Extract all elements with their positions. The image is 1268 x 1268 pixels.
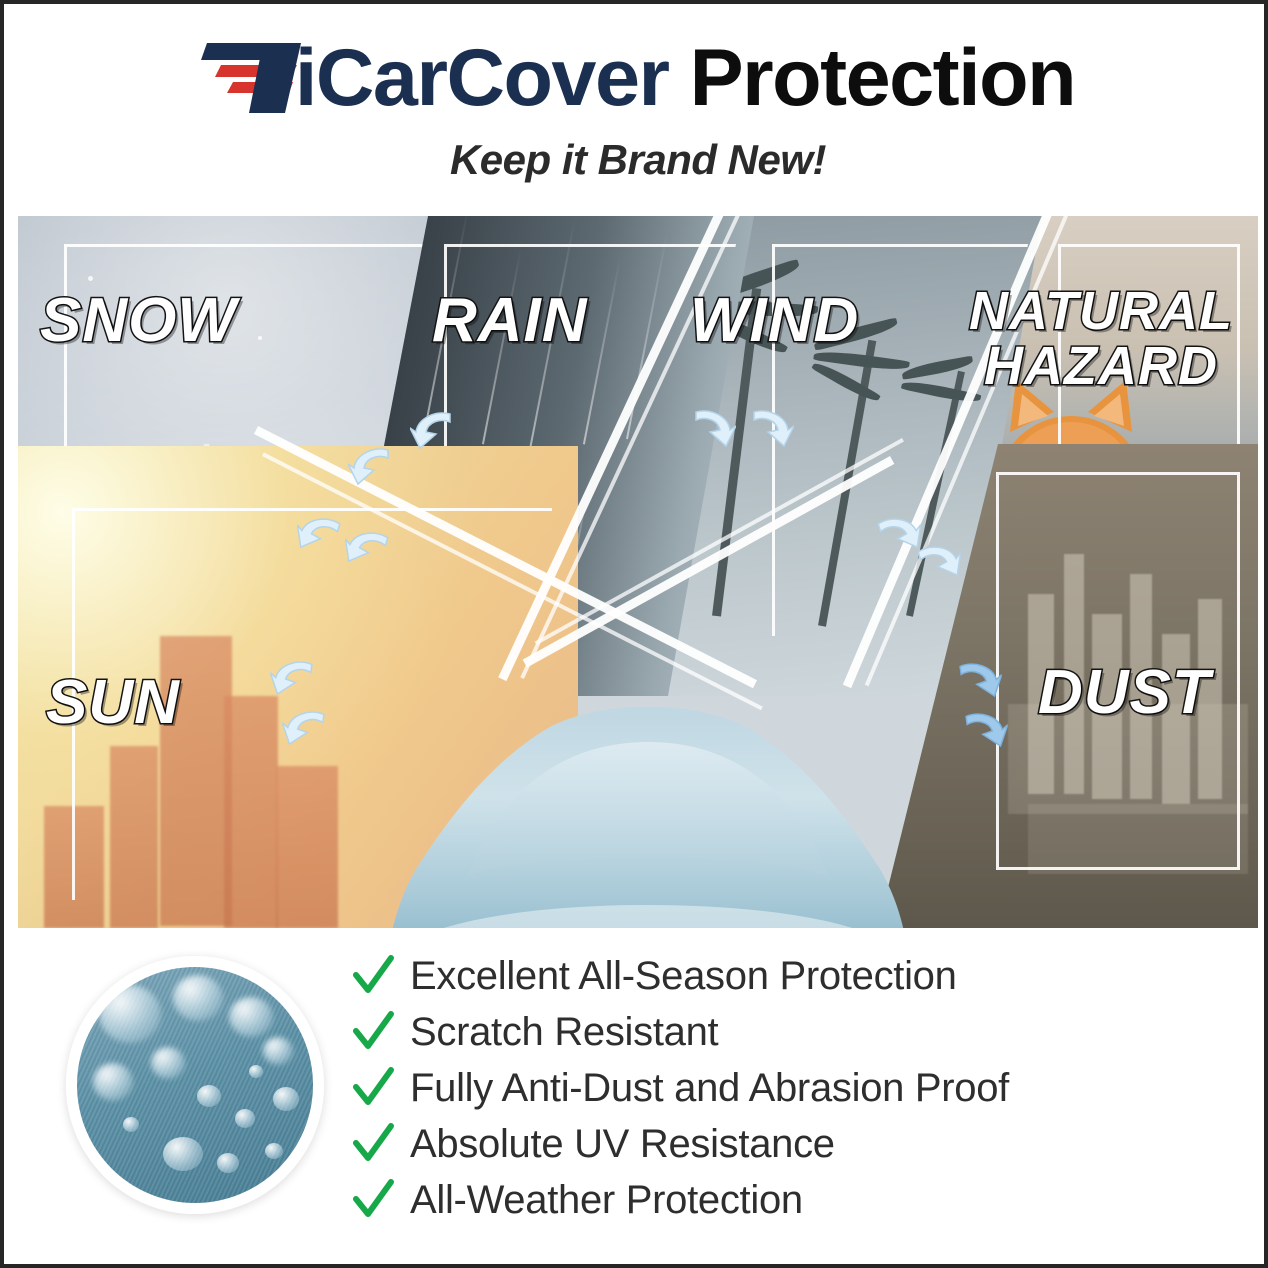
green-check-icon [350,1121,396,1167]
water-beading-fabric-swatch-icon [66,956,324,1214]
feature-label: Excellent All-Season Protection [410,954,957,999]
panel-label-wind: WIND [690,290,859,352]
panel-label-sun: SUN [46,672,180,734]
panel-label-rain: RAIN [432,290,588,352]
page-title: iCarCover Protection [295,40,1075,117]
list-item: All-Weather Protection [350,1172,1230,1228]
curved-deflection-arrow-icon [748,406,794,448]
curved-deflection-arrow-icon [267,653,318,701]
curved-deflection-arrow-icon [690,406,736,448]
panel-label-snow: SNOW [40,290,237,352]
list-item: Excellent All-Season Protection [350,948,1230,1004]
brand-lockup: iCarCover Protection [4,32,1268,124]
green-check-icon [350,1009,396,1055]
feature-label: Scratch Resistant [410,1010,718,1055]
list-item: Fully Anti-Dust and Abrasion Proof [350,1060,1230,1116]
header: iCarCover Protection Keep it Brand New! [4,4,1268,204]
list-item: Absolute UV Resistance [350,1116,1230,1172]
icarcover-wing-logo-icon [201,41,305,115]
brand-suffix: Protection [690,33,1076,123]
product-infographic: iCarCover Protection Keep it Brand New! … [0,0,1268,1268]
feature-label: All-Weather Protection [410,1178,803,1223]
curved-deflection-arrow-icon [279,703,330,751]
features-section: Excellent All-Season Protection Scratch … [4,934,1268,1268]
green-check-icon [350,1065,396,1111]
feature-label: Absolute UV Resistance [410,1122,835,1167]
covered-car-icon [348,646,948,928]
tagline: Keep it Brand New! [4,136,1268,184]
panel-label-dust: DUST [1038,662,1211,724]
feature-label: Fully Anti-Dust and Abrasion Proof [410,1066,1009,1111]
green-check-icon [350,953,396,999]
panel-label-natural-hazard: NATURAL HAZARD [956,284,1246,394]
list-item: Scratch Resistant [350,1004,1230,1060]
feature-list: Excellent All-Season Protection Scratch … [350,948,1230,1228]
curved-deflection-arrow-icon [953,655,1004,703]
protection-collage: ❄ [18,216,1258,928]
green-check-icon [350,1177,396,1223]
curved-deflection-arrow-icon [348,444,394,486]
curved-deflection-arrow-icon [959,705,1010,753]
curved-deflection-arrow-icon [410,408,456,450]
brand-name: iCarCover [295,33,669,123]
